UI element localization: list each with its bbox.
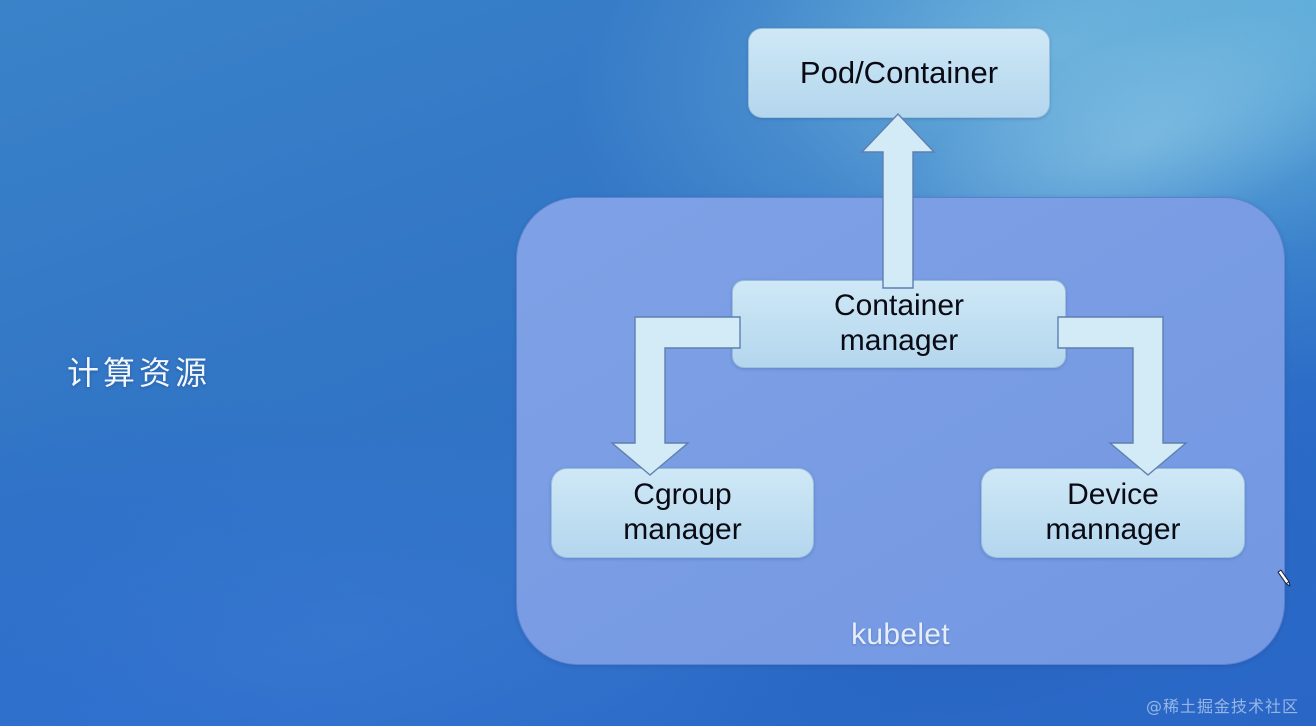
node-device-manager-label: Device mannager <box>1045 478 1180 548</box>
node-device-manager[interactable]: Device mannager <box>981 468 1245 558</box>
pencil-cursor-icon <box>1272 566 1298 592</box>
node-cgroup-manager[interactable]: Cgroup manager <box>551 468 814 558</box>
node-pod-container-label: Pod/Container <box>800 55 998 91</box>
node-container-manager-label: Container manager <box>834 289 964 359</box>
node-cgroup-manager-label: Cgroup manager <box>623 478 741 548</box>
node-container-manager[interactable]: Container manager <box>732 280 1066 368</box>
kubelet-group-container: kubelet <box>516 197 1285 665</box>
compute-resource-caption: 计算资源 <box>67 348 211 394</box>
kubelet-group-label: kubelet <box>517 620 1284 650</box>
node-pod-container[interactable]: Pod/Container <box>748 28 1050 118</box>
watermark-text: @稀土掘金技术社区 <box>1146 693 1299 717</box>
slide-canvas: 计算资源 kubelet Pod/Container Container man… <box>0 0 1316 726</box>
